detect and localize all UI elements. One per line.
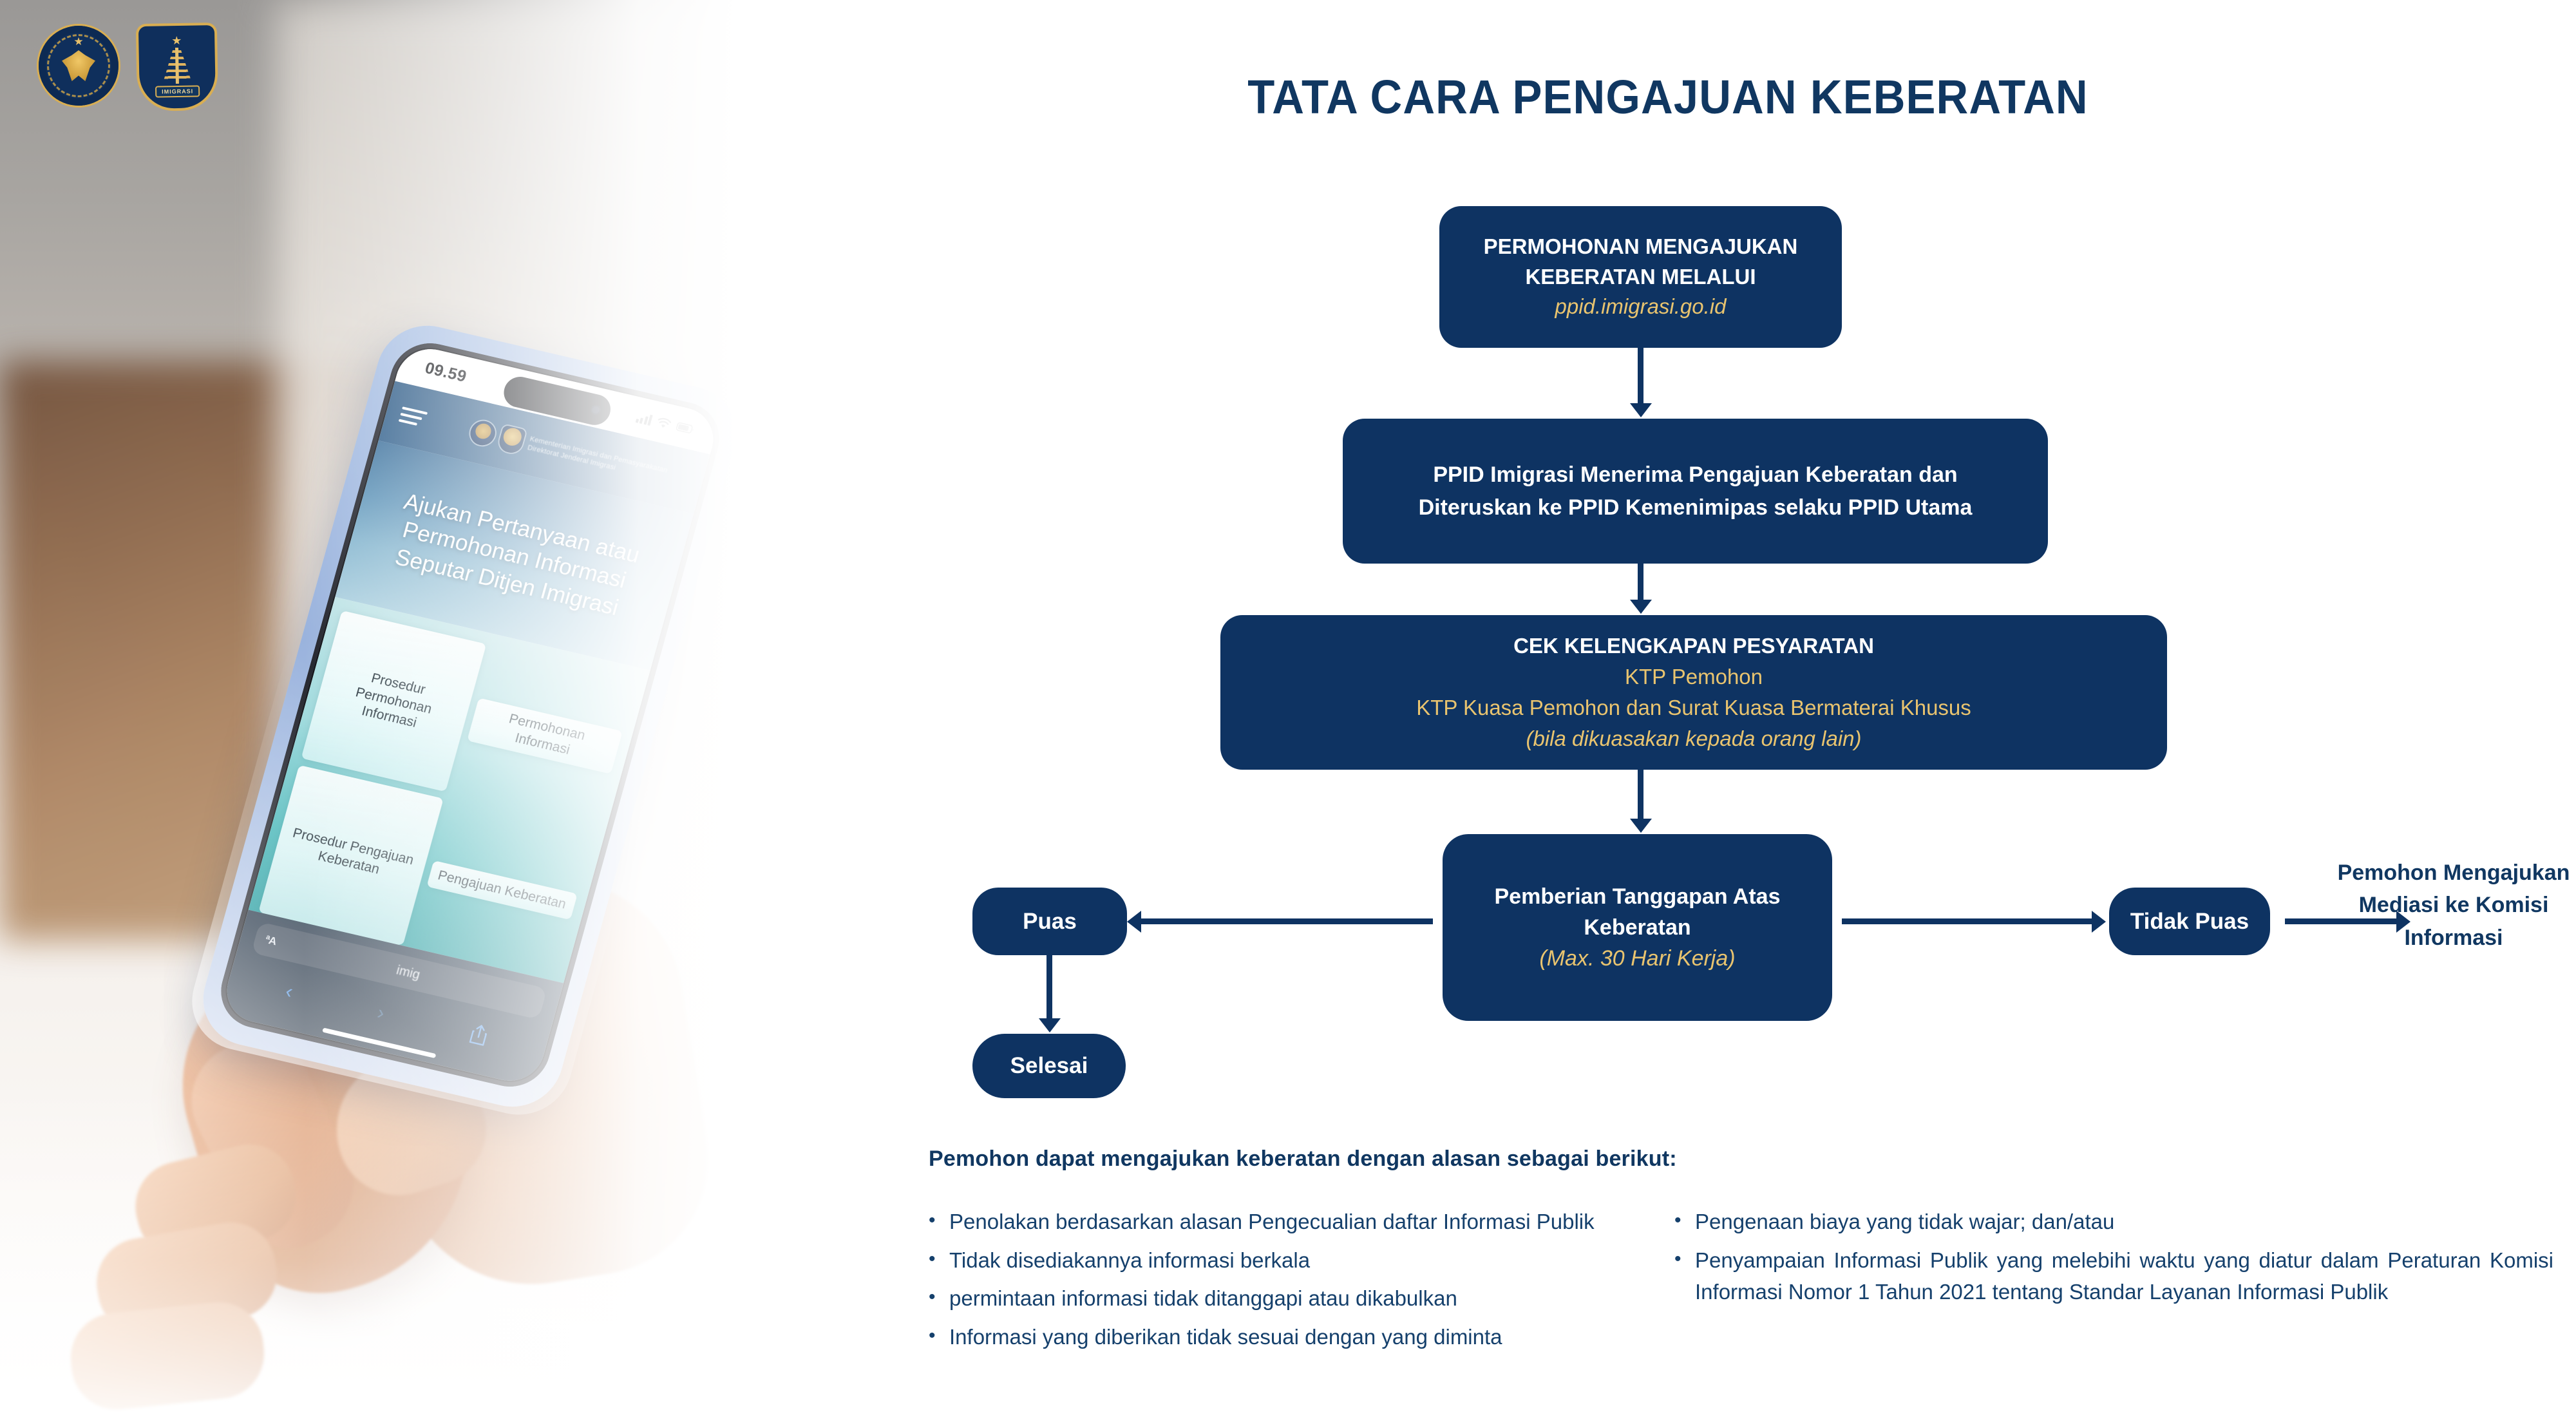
node-line-1: PERMOHONAN MENGAJUKAN — [1484, 232, 1798, 262]
reasons-column-right: • Pengenaan biaya yang tidak wajar; dan/… — [1674, 1206, 2553, 1359]
logo-row: ★ ★ IMIGRASI — [39, 26, 215, 108]
imigrasi-shield-emblem-icon: ★ IMIGRASI — [138, 25, 216, 109]
reason-item: • Penolakan berdasarkan alasan Pengecual… — [929, 1206, 1643, 1238]
reason-text: Pengenaan biaya yang tidak wajar; dan/at… — [1695, 1206, 2553, 1238]
flow-node-pemberian-tanggapan: Pemberian Tanggapan Atas Keberatan (Max.… — [1443, 834, 1832, 1021]
bullet-icon: • — [929, 1321, 938, 1353]
node-requirement-2: KTP Kuasa Pemohon dan Surat Kuasa Bermat… — [1416, 692, 1971, 723]
content-area: TATA CARA PENGAJUAN KEBERATAN PERMOHONAN… — [760, 0, 2576, 1417]
reasons-column-left: • Penolakan berdasarkan alasan Pengecual… — [929, 1206, 1643, 1359]
flow-text-mediasi-komisi-informasi: Pemohon Mengajukan Mediasi ke Komisi Inf… — [2318, 857, 2576, 954]
arrow-left-to-puas — [1140, 918, 1433, 924]
reason-item: • Tidak disediakannya informasi berkala — [929, 1244, 1643, 1277]
reason-text: Informasi yang diberikan tidak sesuai de… — [949, 1321, 1643, 1353]
flow-node-permohonan-mengajukan-keberatan: PERMOHONAN MENGAJUKAN KEBERATAN MELALUI … — [1439, 206, 1842, 348]
node-line-1: Pemberian Tanggapan Atas — [1495, 881, 1781, 912]
bullet-icon: • — [1674, 1244, 1683, 1308]
flow-node-ppid-imigrasi-menerima: PPID Imigrasi Menerima Pengajuan Keberat… — [1343, 419, 2048, 564]
flow-node-cek-kelengkapan-pesyaratan: CEK KELENGKAPAN PESYARATAN KTP Pemohon K… — [1220, 615, 2167, 770]
node-line-2: Diteruskan ke PPID Kemenimipas selaku PP… — [1419, 491, 1973, 524]
reason-text: Penyampaian Informasi Publik yang melebi… — [1695, 1244, 2553, 1308]
node-requirement-1: KTP Pemohon — [1625, 661, 1763, 692]
node-line-2: Keberatan — [1584, 912, 1690, 943]
node-url: ppid.imigrasi.go.id — [1555, 292, 1727, 322]
bullet-icon: • — [929, 1282, 938, 1315]
garuda-icon — [62, 50, 95, 81]
arrow-down-1 — [1638, 348, 1643, 404]
node-line-1: PPID Imigrasi Menerima Pengajuan Keberat… — [1433, 459, 1957, 491]
flow-node-puas: Puas — [972, 888, 1127, 955]
reasons-columns: • Penolakan berdasarkan alasan Pengecual… — [929, 1206, 2558, 1359]
bullet-icon: • — [1674, 1206, 1683, 1238]
node-line-2: KEBERATAN MELALUI — [1525, 262, 1756, 292]
arrow-down-3 — [1638, 770, 1643, 820]
reason-item: • Penyampaian Informasi Publik yang mele… — [1674, 1244, 2553, 1308]
arrow-down-2 — [1638, 564, 1643, 601]
star-icon: ★ — [73, 36, 83, 47]
star-icon: ★ — [171, 35, 182, 46]
flow-node-tidak-puas: Tidak Puas — [2109, 888, 2270, 955]
photo-panel: 09.59 — [0, 0, 760, 1417]
node-requirement-3: (bila dikuasakan kepada orang lain) — [1526, 723, 1861, 754]
imigrasi-ribbon-label: IMIGRASI — [155, 85, 200, 97]
arrow-right-to-tidak-puas — [1842, 918, 2093, 924]
reason-item: • permintaan informasi tidak ditanggapi … — [929, 1282, 1643, 1315]
bullet-icon: • — [929, 1206, 938, 1238]
reason-item: • Pengenaan biaya yang tidak wajar; dan/… — [1674, 1206, 2553, 1238]
reason-text: permintaan informasi tidak ditanggapi at… — [949, 1282, 1643, 1315]
photo-white-fade — [0, 0, 760, 1417]
bullet-icon: • — [929, 1244, 938, 1277]
reason-item: • Informasi yang diberikan tidak sesuai … — [929, 1321, 1643, 1353]
reason-text: Tidak disediakannya informasi berkala — [949, 1244, 1643, 1277]
arrow-down-to-selesai — [1046, 955, 1052, 1020]
flowchart: PERMOHONAN MENGAJUKAN KEBERATAN MELALUI … — [760, 0, 2576, 1134]
reason-text: Penolakan berdasarkan alasan Pengecualia… — [949, 1206, 1643, 1238]
tower-icon — [162, 46, 192, 84]
node-heading: CEK KELENGKAPAN PESYARATAN — [1513, 631, 1874, 661]
reasons-heading: Pemohon dapat mengajukan keberatan denga… — [929, 1146, 1677, 1172]
flow-node-selesai: Selesai — [972, 1034, 1126, 1098]
kementerian-imigrasi-dan-pemasyarakatan-seal-icon: ★ — [39, 26, 118, 106]
node-note: (Max. 30 Hari Kerja) — [1539, 943, 1735, 974]
